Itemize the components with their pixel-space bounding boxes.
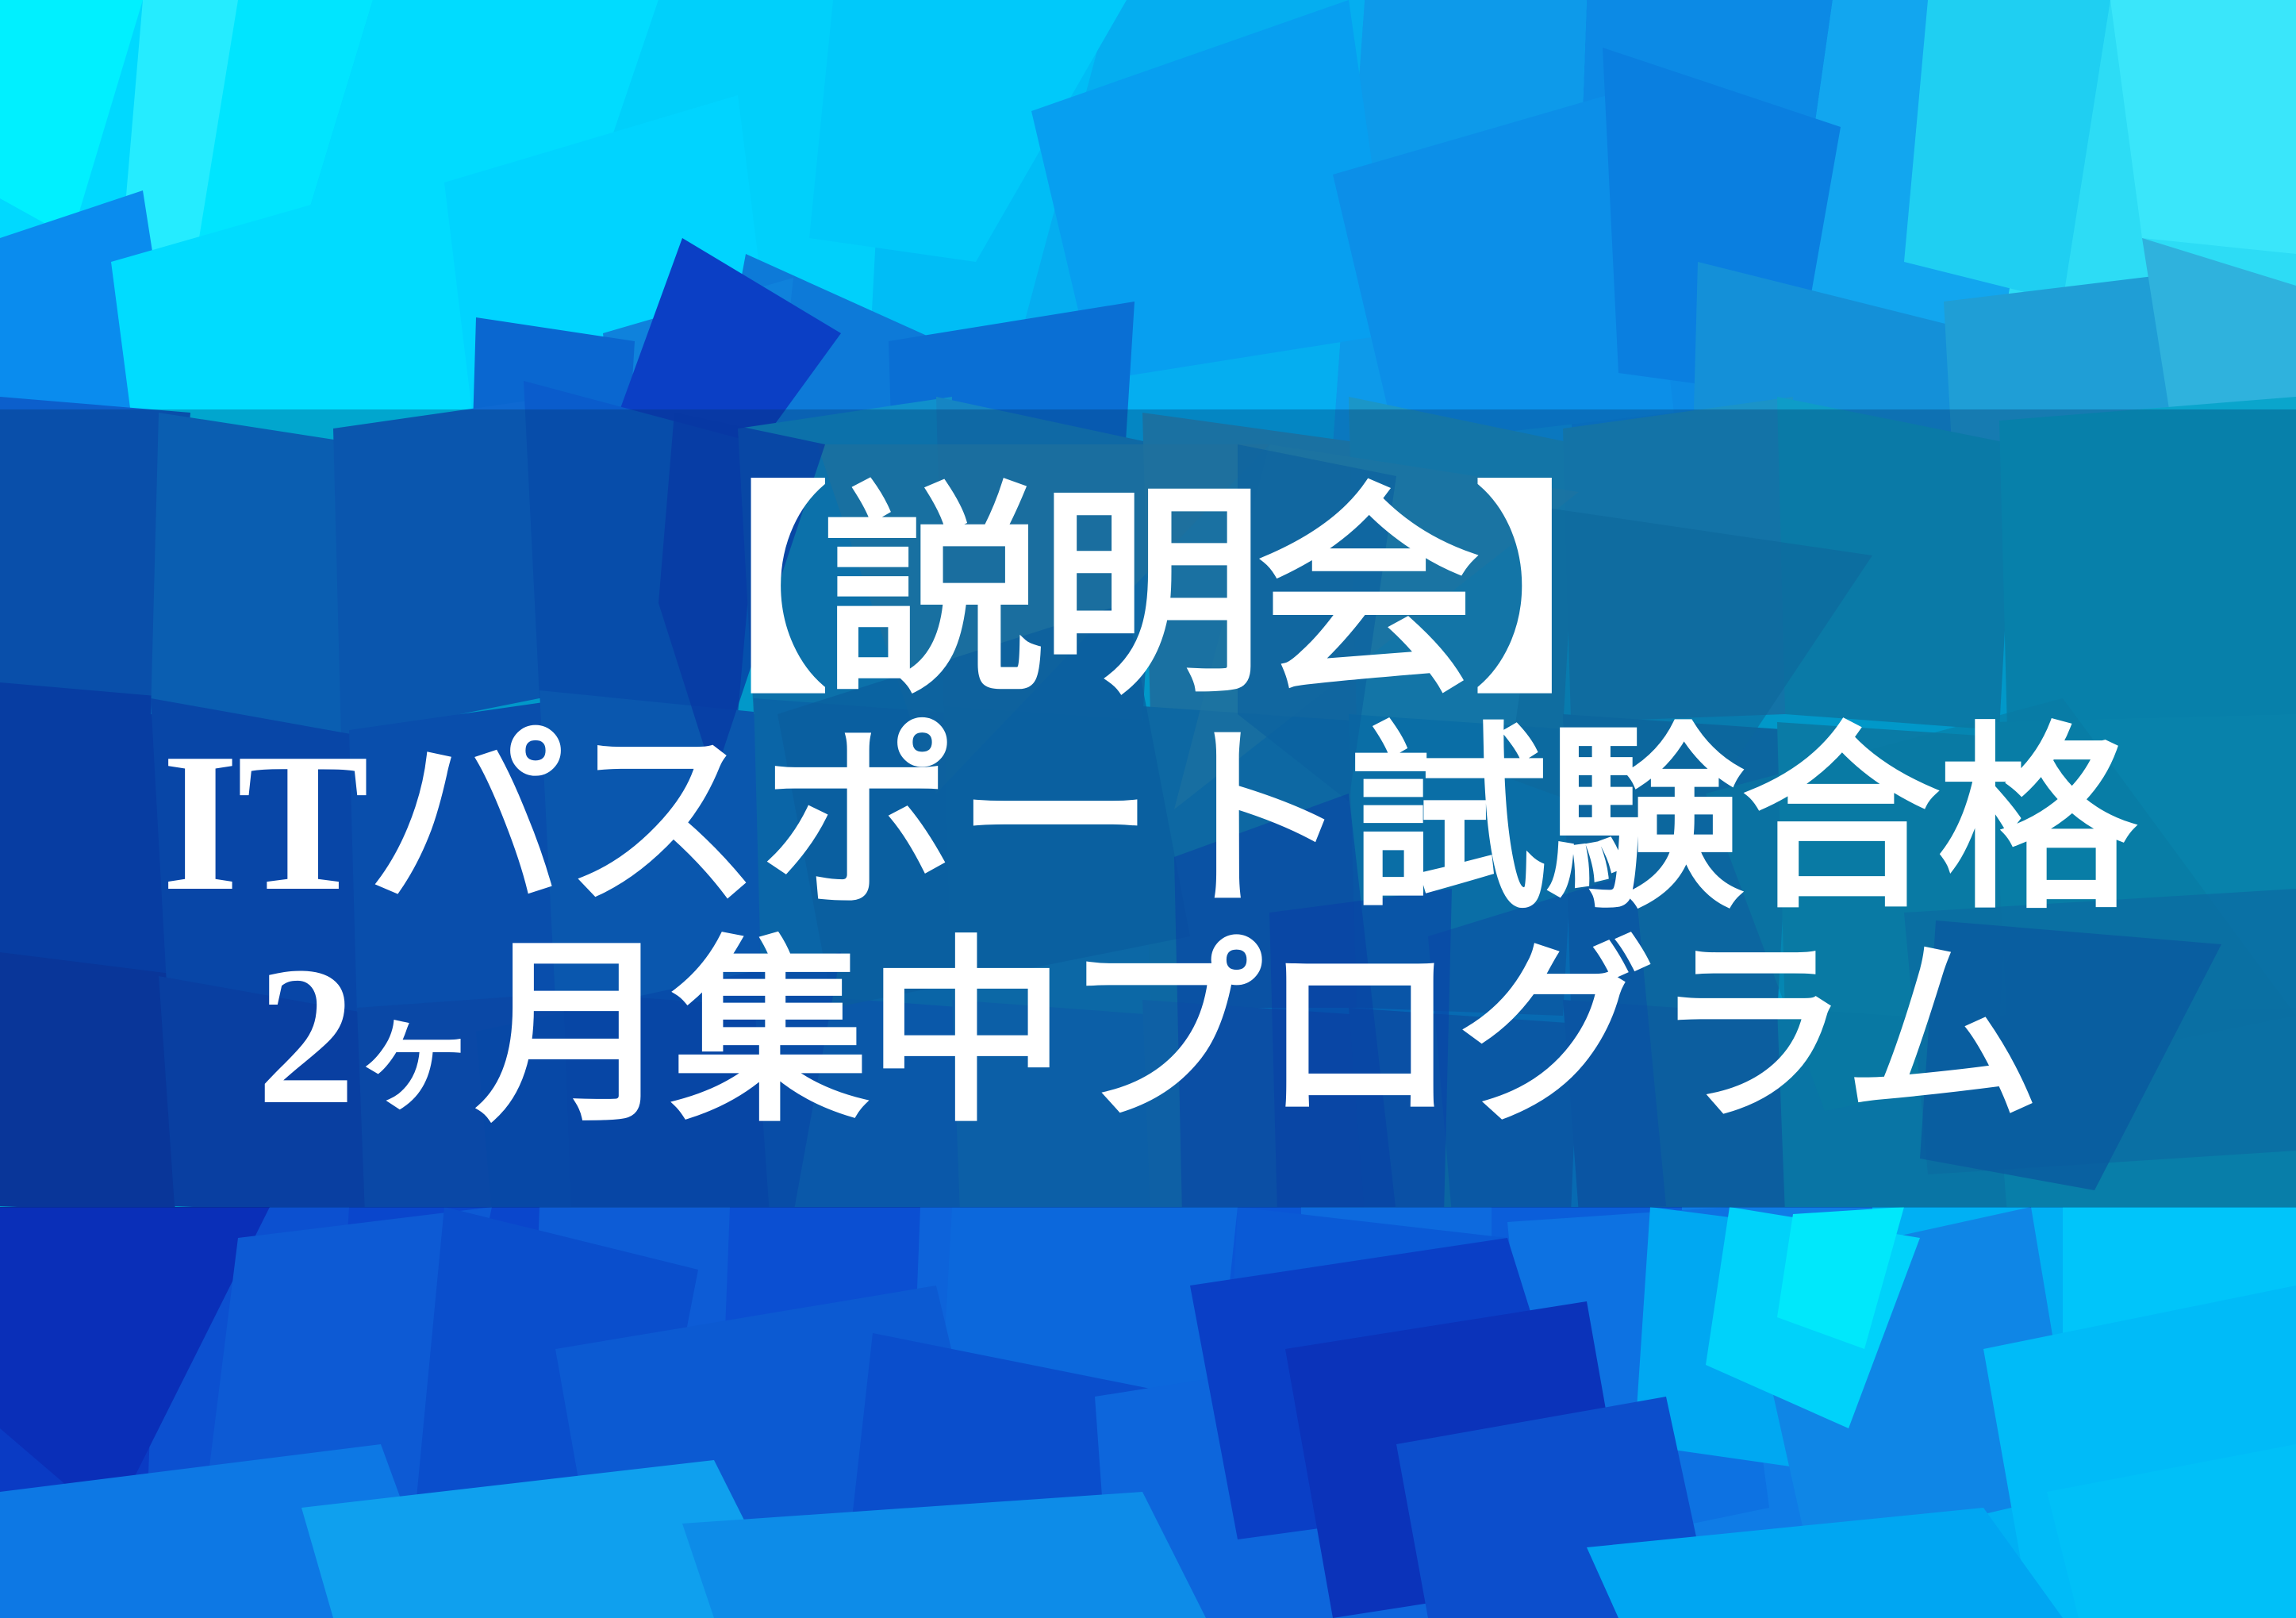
title-line-1: 【説明会】 [605, 482, 1691, 705]
title-line-2-kana: パスポート試験合格 [367, 705, 2135, 936]
title-line-3: 2ヶ月集中プログラム [256, 935, 2040, 1136]
title-line-3-rest: 月集中プログラム [474, 918, 2040, 1149]
title-block: 【説明会】 ITパスポート試験合格 2ヶ月集中プログラム [0, 409, 2296, 1208]
title-line-3-number: 2 [256, 926, 354, 1146]
title-line-2-latin: IT [162, 713, 367, 932]
title-line-3-small-kana: ヶ [354, 983, 475, 1127]
banner-canvas: 【説明会】 ITパスポート試験合格 2ヶ月集中プログラム [0, 0, 2296, 1618]
title-line-2: ITパスポート試験合格 [162, 721, 2135, 922]
